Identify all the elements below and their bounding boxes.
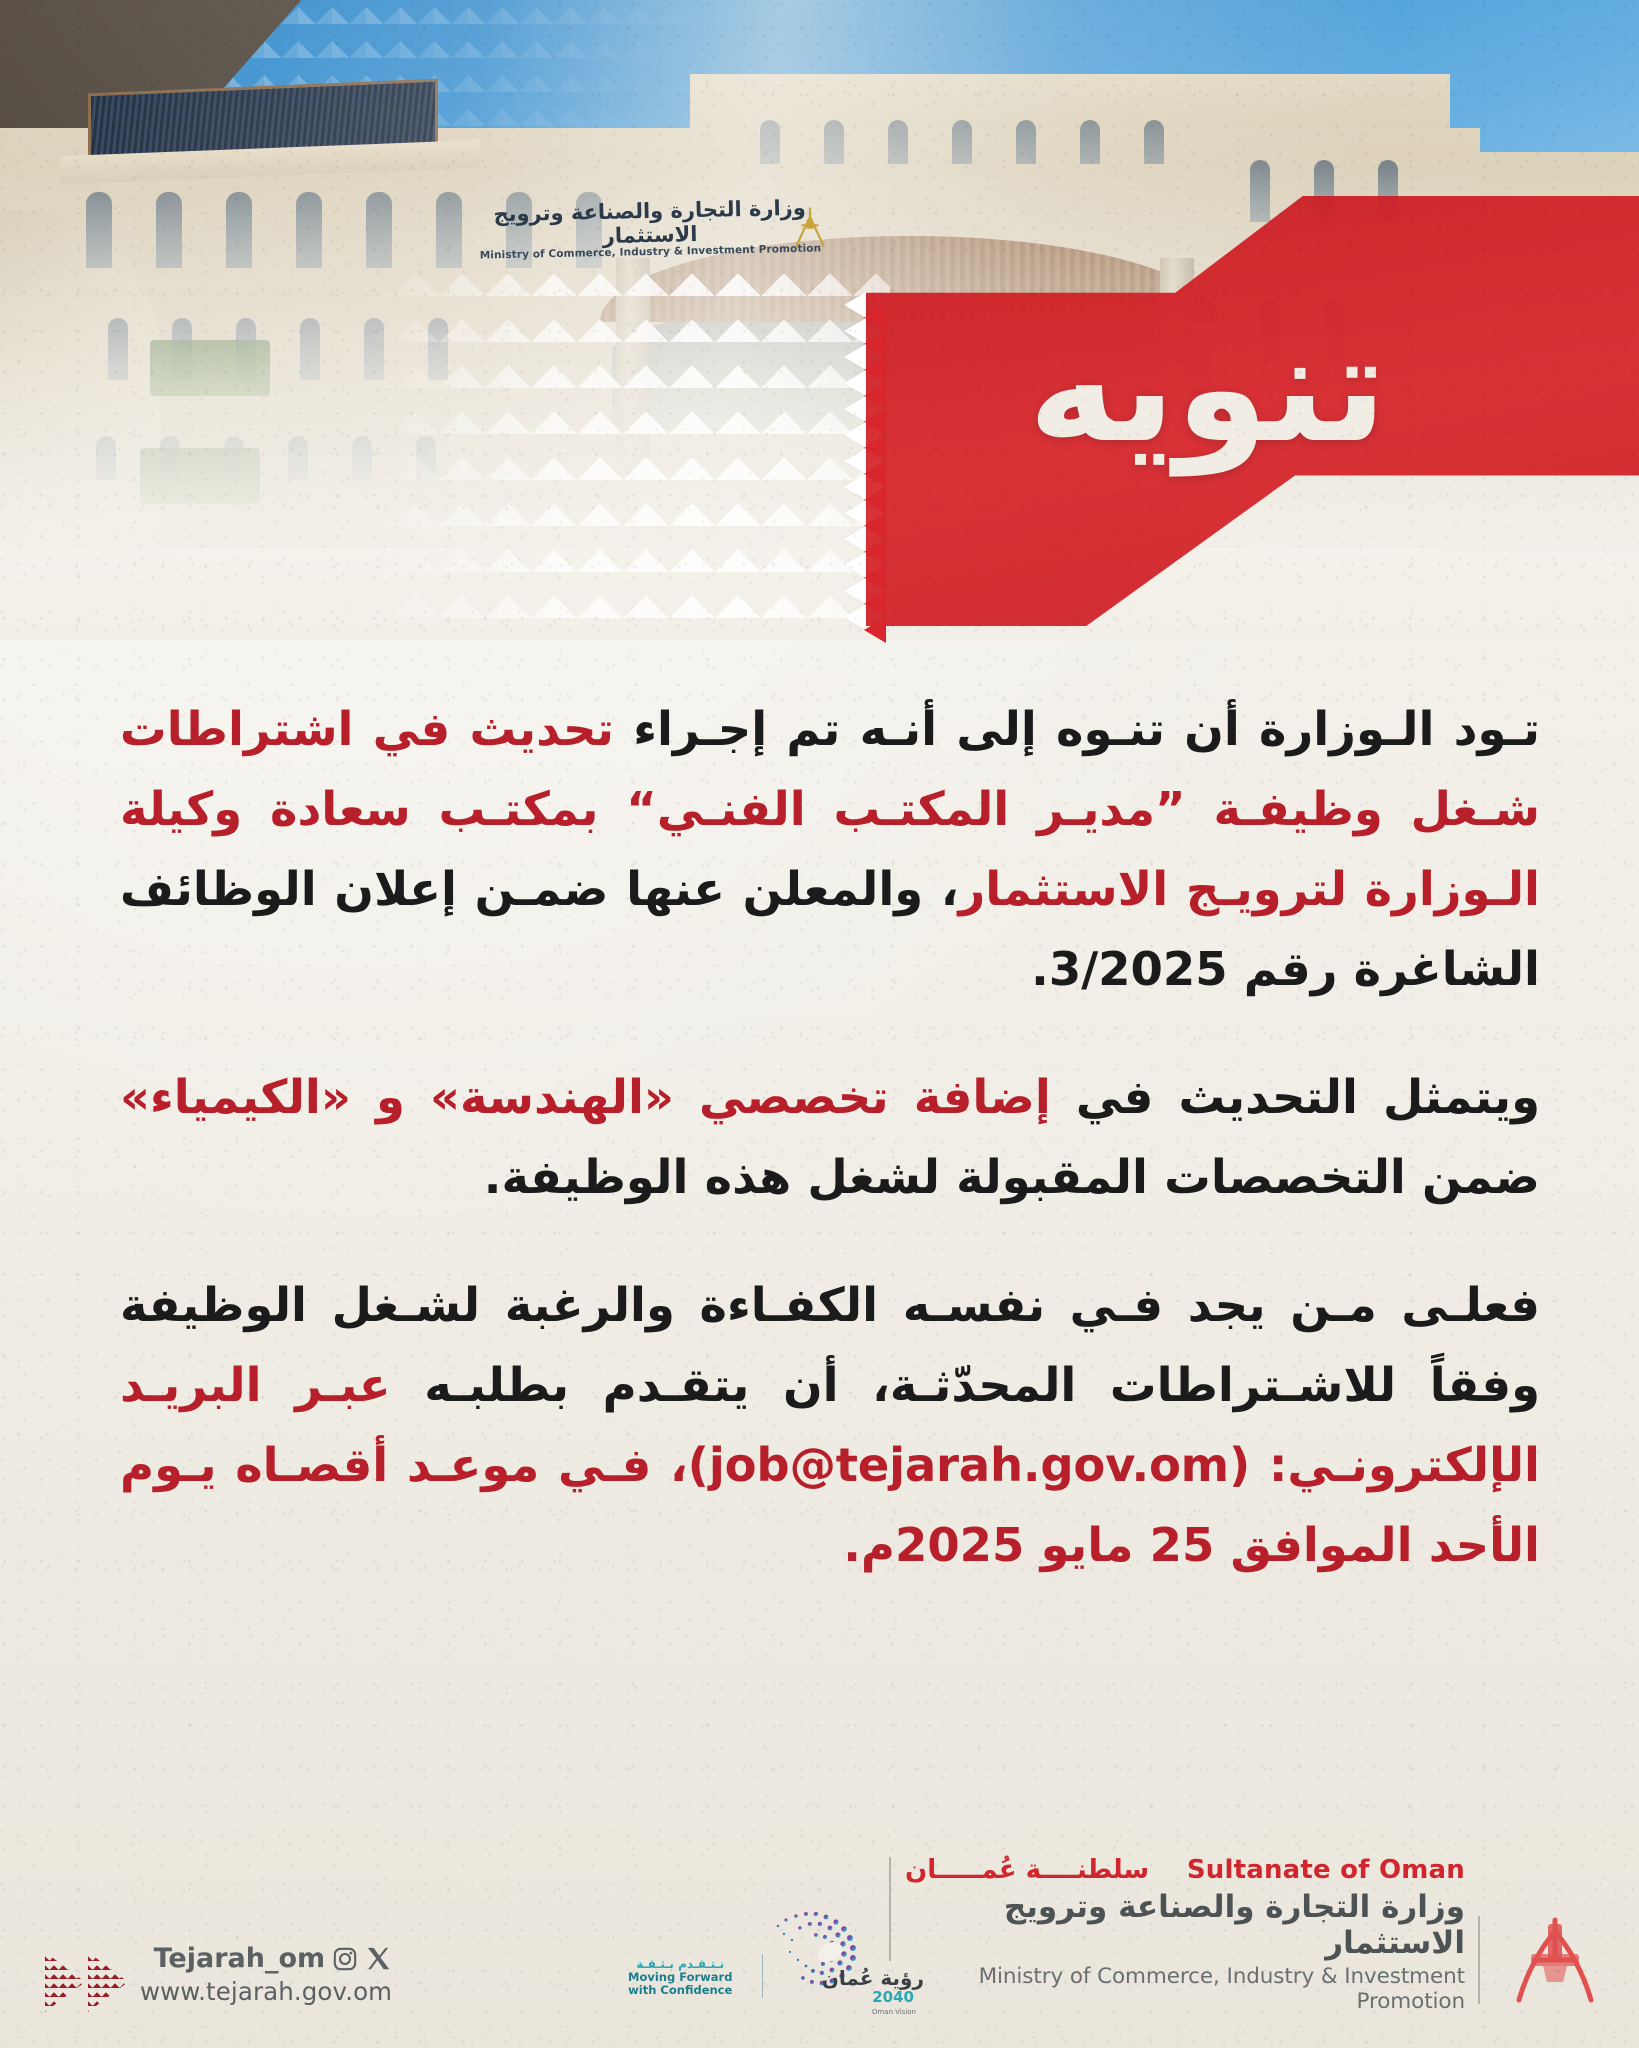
zigzag-arrow (864, 591, 886, 617)
zigzag-arrow (844, 552, 866, 578)
zigzag-arrow (864, 513, 886, 539)
social-links[interactable]: Tejarah_om www.tejarah.gov.om (140, 1945, 392, 2006)
zigzag-arrow (844, 526, 866, 552)
social-handle[interactable]: Tejarah_om (154, 1945, 326, 1972)
vision-tagline: نـتـقـدم بـثـقـة Moving Forward with Con… (628, 1958, 732, 1996)
zigzag-arrow (844, 578, 866, 604)
x-twitter-icon[interactable] (365, 1945, 392, 1972)
instagram-icon[interactable] (332, 1946, 358, 1972)
zigzag-arrow (844, 396, 866, 422)
zigzag-arrow (864, 409, 886, 435)
text-run-plain: ويتمثل التحديث في (1051, 1070, 1540, 1124)
website-url[interactable]: www.tejarah.gov.om (140, 1977, 392, 2006)
zigzag-arrow (864, 487, 886, 513)
zigzag-arrow (864, 565, 886, 591)
banner-title: تنويه (866, 314, 1549, 464)
country-name-ar: سلطنــــة عُمـــــان (905, 1855, 1149, 1885)
vision-tagline-en-1: Moving Forward (628, 1971, 732, 1983)
oman-vision-2040-logo: نـتـقـدم بـثـقـة Moving Forward with Con… (620, 1908, 920, 2018)
vision-divider (762, 1954, 763, 1998)
text-run-plain: تـود الـوزارة أن تنـوه إلى أنـه تم إجـرا… (614, 702, 1540, 756)
notice-banner: تنويه (866, 196, 1639, 626)
diamond-pattern-decoration (370, 250, 890, 640)
lockup-divider (889, 1857, 891, 1961)
emblem-divider (1478, 1916, 1480, 2004)
zigzag-arrow (864, 435, 886, 461)
ministry-name-en: Ministry of Commerce, Industry & Investm… (905, 1964, 1465, 2014)
announcement-body: تـود الـوزارة أن تنـوه إلى أنـه تم إجـرا… (120, 690, 1540, 1586)
zigzag-edge-decoration (844, 292, 890, 626)
zigzag-arrow (844, 422, 866, 448)
zigzag-arrow (864, 461, 886, 487)
zigzag-arrow (864, 617, 886, 643)
facade-emblem-icon (793, 205, 827, 249)
poster-footer: Tejarah_om www.tejarah.gov.om نـتـقـدم ب… (0, 1878, 1639, 2048)
text-run-highlight: إضافة تخصصي «الهندسة» و «الكيمياء» (120, 1070, 1051, 1124)
zigzag-arrow (864, 305, 886, 331)
zigzag-arrow (844, 604, 866, 630)
zigzag-arrow (844, 474, 866, 500)
social-handle-row[interactable]: Tejarah_om (140, 1945, 392, 1972)
paragraph-1: تـود الـوزارة أن تنـوه إلى أنـه تم إجـرا… (120, 690, 1540, 1010)
ministry-name-ar: وزارة التجارة والصناعة وترويج الاستثمار (905, 1889, 1465, 1961)
ministry-lockup: Sultanate of Oman سلطنــــة عُمـــــان و… (905, 1855, 1465, 2014)
paragraph-3: فعلـى مـن يجد فـي نفسـه الكفـاءة والرغبة… (120, 1266, 1540, 1586)
country-name-en: Sultanate of Oman (1187, 1855, 1465, 1885)
oman-national-emblem-icon (1505, 1914, 1605, 2006)
zigzag-arrow (864, 539, 886, 565)
zigzag-arrow (844, 370, 866, 396)
paragraph-2: ويتمثل التحديث في إضافة تخصصي «الهندسة» … (120, 1058, 1540, 1218)
zigzag-arrow (864, 383, 886, 409)
country-line: Sultanate of Oman سلطنــــة عُمـــــان (905, 1855, 1465, 1885)
zigzag-arrow (844, 500, 866, 526)
zigzag-arrow (844, 448, 866, 474)
zigzag-arrow (864, 357, 886, 383)
zigzag-arrow (844, 318, 866, 344)
double-chevron-mark-icon (42, 1952, 128, 2012)
vision-tagline-en-2: with Confidence (628, 1984, 732, 1996)
zigzag-arrow (864, 331, 886, 357)
announcement-poster: وزارة التجارة والصناعة وترويج الاستثمار … (0, 0, 1639, 2048)
zigzag-arrow (844, 292, 866, 318)
text-run-plain: ضمن التخصصات المقبولة لشغل هذه الوظيفة. (484, 1150, 1540, 1204)
zigzag-arrow (844, 344, 866, 370)
